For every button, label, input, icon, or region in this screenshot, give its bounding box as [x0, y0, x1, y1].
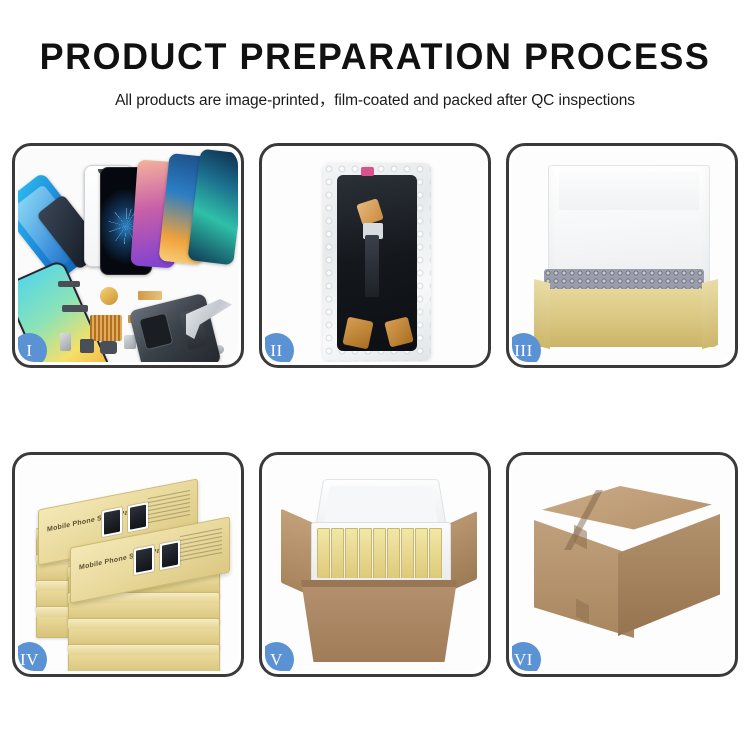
step-4-photo: Mobile Phone Spare Parts Mobile Phone Sp…: [18, 458, 238, 671]
box-window-1: [101, 506, 123, 538]
step-3-photo: III: [512, 149, 732, 362]
retail-box-stack: Mobile Phone Spare Parts Mobile Phone Sp…: [32, 480, 234, 662]
camera-module-part: [80, 339, 94, 353]
header: PRODUCT PREPARATION PROCESS All products…: [0, 0, 750, 110]
bottom-flex-right: [384, 316, 414, 347]
stacked-box: [68, 644, 220, 671]
page-subtitle: All products are image-printed，film-coat…: [0, 88, 750, 110]
box-spec-lines: [180, 528, 222, 570]
rubber-gasket-part: [100, 341, 117, 354]
adhesive-tape: [356, 198, 384, 226]
process-step-6: VI: [506, 452, 738, 677]
phone-back-housing: [128, 293, 221, 362]
carton-side-face: [618, 514, 720, 636]
step-6-photo: VI: [512, 458, 732, 671]
box-window-1: [133, 544, 155, 576]
process-steps-grid: I II: [12, 143, 738, 699]
box-brand-label: Mobile Phone Spare Parts: [79, 545, 170, 571]
process-step-2: II: [259, 143, 491, 368]
product-preparation-infographic: PRODUCT PREPARATION PROCESS All products…: [0, 0, 750, 750]
step-1-photo: I: [18, 149, 238, 362]
box-window-2: [159, 539, 181, 571]
process-step-1: I: [12, 143, 244, 368]
step-5-photo: V: [265, 458, 485, 671]
box-window-2: [127, 501, 149, 533]
process-step-5: V: [259, 452, 491, 677]
step-badge-2: II: [265, 333, 294, 362]
lcd-screen-assembly: [337, 175, 417, 351]
page-title: PRODUCT PREPARATION PROCESS: [11, 38, 739, 75]
copper-grid-part: [90, 315, 122, 341]
process-step-4: Mobile Phone Spare Parts Mobile Phone Sp…: [12, 452, 244, 677]
gold-flex-part: [138, 291, 162, 300]
carton-front-wall: [301, 580, 457, 662]
kraft-tray-assembly: [534, 165, 718, 347]
bottom-flex-left: [342, 317, 373, 350]
metal-bracket-part: [60, 333, 71, 351]
flex-cable-part: [62, 305, 88, 312]
speaker-coil-part: [100, 287, 118, 305]
process-step-3: III: [506, 143, 738, 368]
open-carton-assembly: [281, 476, 477, 662]
flex-cable: [365, 235, 379, 297]
black-strip-part: [58, 281, 80, 287]
yellow-kraft-tray: [534, 289, 718, 347]
box-brand-label: Mobile Phone Spare Parts: [47, 507, 138, 533]
pink-qc-sticker: [361, 167, 374, 176]
step-2-photo: II: [265, 149, 485, 362]
yellow-boxes-inside: [317, 528, 443, 578]
bubble-wrap-bag: [323, 163, 431, 361]
sealed-carton: [534, 486, 720, 652]
